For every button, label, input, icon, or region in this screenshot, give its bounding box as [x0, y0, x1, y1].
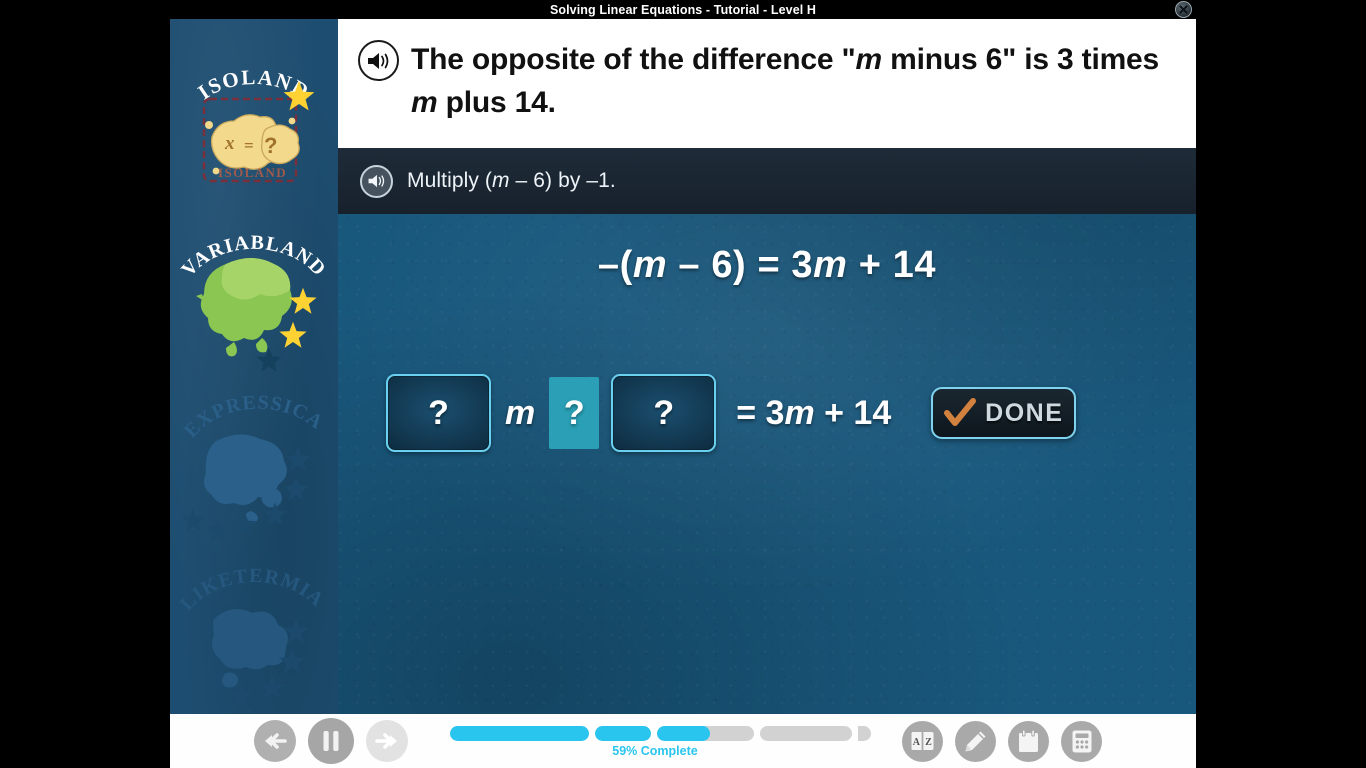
- forward-arrow-icon: [375, 731, 399, 751]
- calculator-icon: [1071, 729, 1093, 754]
- progress-segment: [657, 726, 754, 741]
- problem-statement-banner: The opposite of the difference "m minus …: [338, 19, 1196, 148]
- window-title: Solving Linear Equations - Tutorial - Le…: [550, 3, 816, 17]
- right-hand-side: = 3m + 14: [736, 394, 891, 433]
- problem-text: The opposite of the difference "m minus …: [399, 37, 1176, 124]
- star-earned: [282, 79, 316, 113]
- pause-icon: [322, 730, 340, 752]
- notepad-button[interactable]: [1008, 721, 1049, 762]
- speaker-button-instruction[interactable]: [360, 165, 393, 198]
- svg-text:?: ?: [264, 133, 277, 158]
- svg-text:A: A: [913, 737, 921, 748]
- back-arrow-icon: [263, 731, 287, 751]
- speaker-icon: [367, 173, 387, 189]
- tool-buttons: A Z: [902, 721, 1102, 762]
- star-locked: [258, 673, 286, 701]
- done-label: DONE: [985, 399, 1063, 428]
- glossary-button[interactable]: A Z: [902, 721, 943, 762]
- answer-slot-2-selected[interactable]: ?: [549, 377, 599, 449]
- bottom-toolbar: 59% Complete A Z: [170, 714, 1196, 768]
- svg-text:ISOLAND: ISOLAND: [218, 165, 287, 180]
- progress-segment: [760, 726, 852, 741]
- star-locked: [232, 511, 258, 537]
- progress-segment: [450, 726, 589, 741]
- app-window: Solving Linear Equations - Tutorial - Le…: [170, 0, 1196, 768]
- star-locked: [238, 705, 262, 714]
- sidebar-item-expressica[interactable]: EXPRESSICA: [170, 389, 338, 559]
- svg-text:x: x: [224, 133, 235, 154]
- calculator-button[interactable]: [1061, 721, 1102, 762]
- close-icon: [1178, 4, 1189, 15]
- islands-sidebar: ISOLAND x = ? ISOLAND: [170, 19, 338, 714]
- sidebar-item-variabland[interactable]: VARIABLAND: [170, 224, 338, 384]
- star-locked: [180, 507, 206, 533]
- variable-m: m: [505, 394, 535, 433]
- progress-label: 59% Complete: [450, 744, 860, 758]
- pause-button[interactable]: [308, 718, 354, 764]
- answer-slot-1[interactable]: ?: [386, 374, 491, 452]
- svg-text:Z: Z: [925, 737, 932, 748]
- progress-indicator[interactable]: 59% Complete: [450, 722, 860, 760]
- sidebar-item-isoland[interactable]: ISOLAND x = ? ISOLAND: [170, 55, 338, 223]
- glossary-book-icon: A Z: [910, 730, 935, 752]
- notepad-icon: [1017, 729, 1040, 754]
- star-locked: [262, 501, 288, 527]
- speaker-icon: [366, 51, 392, 71]
- draw-button[interactable]: [955, 721, 996, 762]
- title-bar: Solving Linear Equations - Tutorial - Le…: [170, 0, 1196, 19]
- star-locked: [282, 617, 310, 645]
- star-locked: [282, 475, 310, 503]
- star-locked: [255, 346, 283, 374]
- sidebar-item-liketermia[interactable]: LIKETERMIA: [170, 559, 338, 714]
- screen-root: Solving Linear Equations - Tutorial - Le…: [0, 0, 1366, 768]
- close-button[interactable]: [1175, 1, 1192, 18]
- star-locked: [205, 517, 231, 543]
- speaker-button-problem[interactable]: [358, 40, 399, 81]
- progress-end-cap: [858, 726, 871, 741]
- progress-track: [450, 726, 871, 741]
- forward-button[interactable]: [366, 720, 408, 762]
- answer-input-row: ? m ? ? = 3m + 14 DONE: [338, 371, 1196, 455]
- instruction-banner: Multiply (m – 6) by –1.: [338, 148, 1196, 214]
- answer-slot-3[interactable]: ?: [611, 374, 716, 452]
- done-button[interactable]: DONE: [931, 387, 1076, 439]
- progress-segment: [595, 726, 651, 741]
- svg-text:=: =: [244, 136, 254, 155]
- instruction-text: Multiply (m – 6) by –1.: [393, 169, 616, 193]
- pencil-icon: [963, 729, 988, 754]
- back-button[interactable]: [254, 720, 296, 762]
- check-icon: [944, 398, 976, 428]
- star-locked: [278, 647, 306, 675]
- star-locked: [284, 445, 312, 473]
- star-earned: [288, 286, 318, 316]
- equation-display: –(m – 6) = 3m + 14: [338, 244, 1196, 287]
